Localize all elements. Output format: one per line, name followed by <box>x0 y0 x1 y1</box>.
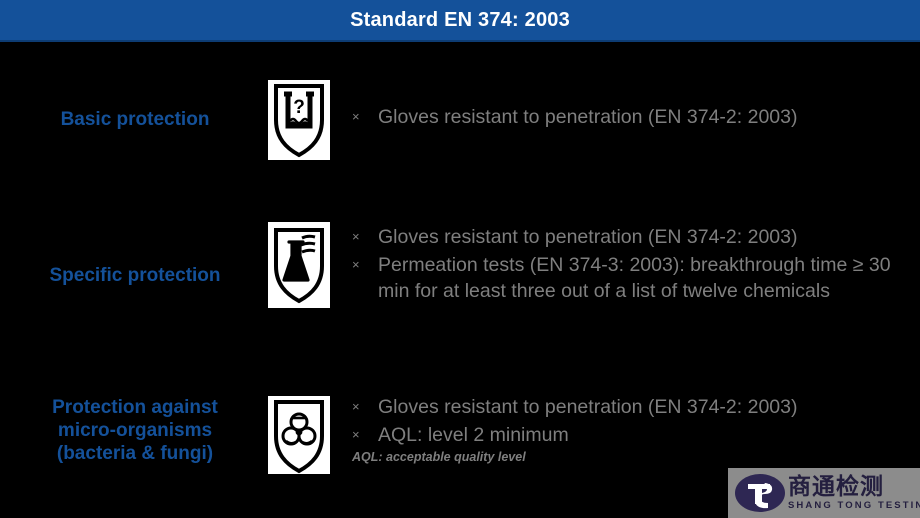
shang-tong-monogram-icon <box>734 472 786 514</box>
bullet-marker-icon: × <box>352 422 378 448</box>
shield-beaker-question-icon: ? <box>268 80 330 160</box>
row-basic-protection: Basic protection ? × Gloves resistant to… <box>0 74 920 174</box>
list-item: × Gloves resistant to penetration (EN 37… <box>352 104 912 130</box>
logo-chinese-name: 商通检测 <box>788 475 920 500</box>
bullet-list-specific-protection: × Gloves resistant to penetration (EN 37… <box>352 224 912 306</box>
row-label-micro-organism-protection: Protection against micro-organisms (bact… <box>10 396 260 465</box>
list-item: × Permeation tests (EN 374-3: 2003): bre… <box>352 252 912 304</box>
list-item-text: Gloves resistant to penetration (EN 374-… <box>378 224 912 250</box>
list-item-text: AQL: level 2 minimum <box>378 422 912 448</box>
row-specific-protection: Specific protection × Gloves resistant t… <box>0 222 920 347</box>
title-bar: Standard EN 374: 2003 <box>0 0 920 42</box>
bullet-marker-icon: × <box>352 224 378 250</box>
bullet-marker-icon: × <box>352 394 378 420</box>
list-item: × Gloves resistant to penetration (EN 37… <box>352 224 912 250</box>
company-logo: 商通检测 SHANG TONG TESTING <box>728 468 920 518</box>
svg-text:?: ? <box>293 97 305 118</box>
row-label-specific-protection: Specific protection <box>10 264 260 287</box>
page-title: Standard EN 374: 2003 <box>350 9 570 32</box>
list-item-text: Gloves resistant to penetration (EN 374-… <box>378 104 912 130</box>
list-item: × AQL: level 2 minimum <box>352 422 912 448</box>
row-label-line-1: Protection against <box>10 396 260 419</box>
footnote-aql-definition: AQL: acceptable quality level <box>352 450 912 464</box>
list-item-text: Gloves resistant to penetration (EN 374-… <box>378 394 912 420</box>
bullet-list-basic-protection: × Gloves resistant to penetration (EN 37… <box>352 104 912 132</box>
shield-biohazard-icon <box>268 396 330 474</box>
logo-english-name: SHANG TONG TESTING <box>788 500 920 512</box>
logo-wordmark: 商通检测 SHANG TONG TESTING <box>786 475 920 512</box>
list-item-text: Permeation tests (EN 374-3: 2003): break… <box>378 252 912 304</box>
row-label-line-3: (bacteria & fungi) <box>10 442 260 465</box>
row-label-line-2: micro-organisms <box>10 419 260 442</box>
bullet-marker-icon: × <box>352 252 378 278</box>
bullet-list-micro-organism-protection: × Gloves resistant to penetration (EN 37… <box>352 394 912 464</box>
row-label-basic-protection: Basic protection <box>10 108 260 131</box>
list-item: × Gloves resistant to penetration (EN 37… <box>352 394 912 420</box>
shield-erlenmeyer-flask-fumes-icon <box>268 222 330 308</box>
bullet-marker-icon: × <box>352 104 378 130</box>
